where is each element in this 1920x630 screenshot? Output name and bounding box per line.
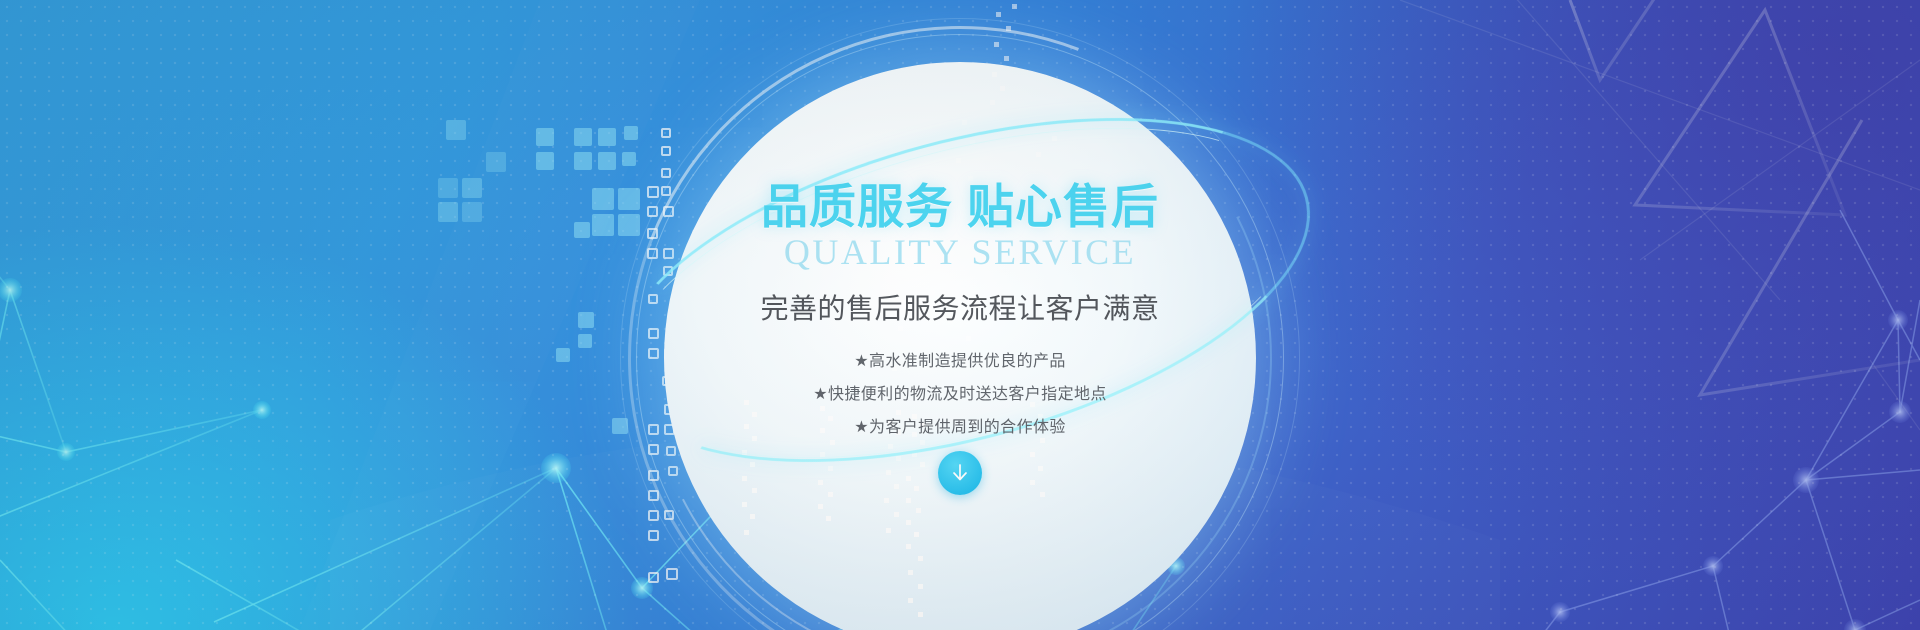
page-title: 品质服务 贴心售后 — [761, 168, 1159, 237]
service-banner: 品质服务 贴心售后 QUALITY SERVICE 完善的售后服务流程让客户满意… — [0, 0, 1920, 630]
scroll-down-button[interactable] — [938, 451, 982, 495]
subtitle: 完善的售后服务流程让客户满意 — [760, 287, 1159, 327]
arrow-down-icon — [947, 460, 973, 486]
list-item: ★为客户提供周到的合作体验 — [854, 413, 1066, 437]
list-item: ★高水准制造提供优良的产品 — [854, 347, 1066, 371]
list-item: ★快捷便利的物流及时送达客户指定地点 — [813, 380, 1107, 404]
feature-list: ★高水准制造提供优良的产品 ★快捷便利的物流及时送达客户指定地点 ★为客户提供周… — [813, 347, 1107, 437]
title-english: QUALITY SERVICE — [784, 231, 1136, 273]
banner-content: 品质服务 贴心售后 QUALITY SERVICE 完善的售后服务流程让客户满意… — [664, 62, 1256, 630]
